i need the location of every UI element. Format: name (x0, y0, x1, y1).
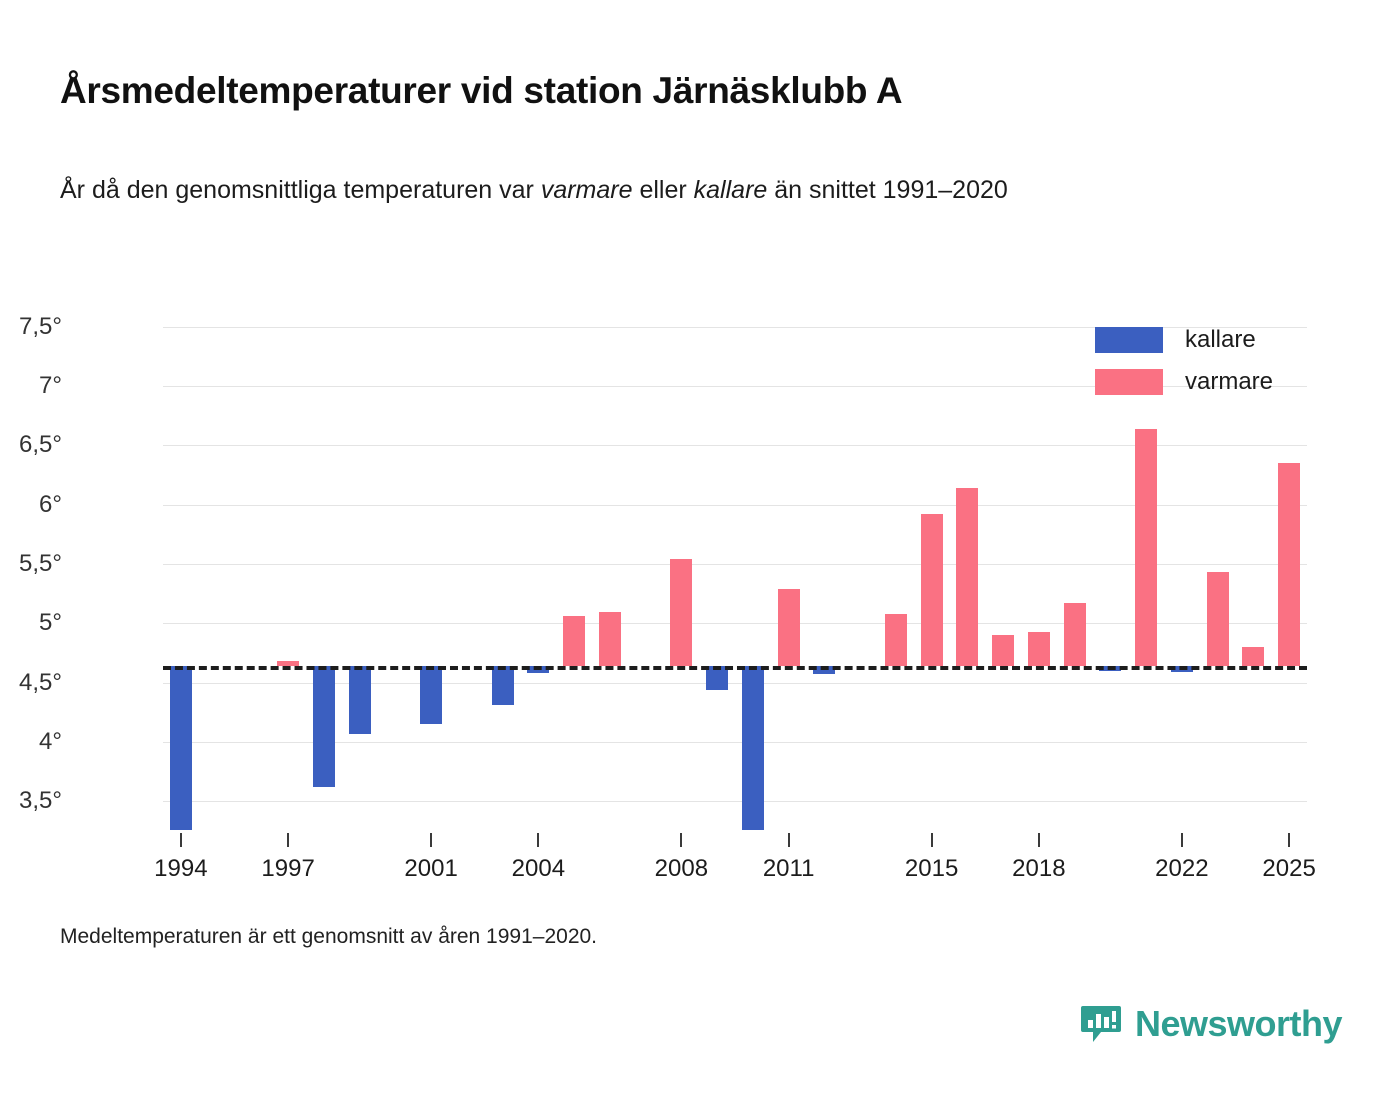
x-axis-tick (430, 833, 432, 847)
x-axis-tick (287, 833, 289, 847)
legend-label-kallare: kallare (1185, 326, 1256, 354)
legend-swatch-kallare (1095, 327, 1163, 353)
chart-bar[interactable] (313, 666, 335, 787)
y-axis-tick-label: 6,5° (19, 431, 62, 459)
x-axis-tick (180, 833, 182, 847)
x-axis-tick-label: 1994 (154, 855, 207, 883)
chart-bar[interactable] (992, 635, 1014, 666)
x-axis-tick (1288, 833, 1290, 847)
x-axis-tick-label: 2008 (655, 855, 708, 883)
chart-bar[interactable] (742, 666, 764, 830)
x-axis-tick (1181, 833, 1183, 847)
chart-footnote: Medeltemperaturen är ett genomsnitt av å… (60, 925, 597, 949)
bar-chart-bubble-icon (1079, 1002, 1123, 1046)
subtitle-emphasis-varmare: varmare (541, 176, 633, 204)
y-axis-tick-label: 4° (39, 728, 62, 756)
subtitle-emphasis-kallare: kallare (694, 176, 768, 204)
legend-item-varmare: varmare (1095, 368, 1273, 396)
chart-bar[interactable] (921, 514, 943, 666)
x-axis-tick (931, 833, 933, 847)
gridline (163, 801, 1307, 802)
chart-bar[interactable] (349, 666, 371, 734)
x-axis-tick (788, 833, 790, 847)
y-axis-tick-label: 7,5° (19, 313, 62, 341)
y-axis-tick-label: 4,5° (19, 669, 62, 697)
chart-bar[interactable] (778, 589, 800, 666)
x-axis-tick-label: 2001 (404, 855, 457, 883)
x-axis-tick-label: 2022 (1155, 855, 1208, 883)
chart-legend: kallare varmare (1095, 326, 1273, 410)
x-axis-tick-label: 2011 (763, 855, 815, 883)
chart-bar[interactable] (563, 616, 585, 666)
x-axis-tick-label: 1997 (261, 855, 314, 883)
subtitle-part-1: År då den genomsnittliga temperaturen va… (60, 176, 541, 204)
legend-swatch-varmare (1095, 369, 1163, 395)
chart-bar[interactable] (170, 666, 192, 830)
subtitle-part-3: än snittet 1991–2020 (767, 176, 1007, 204)
x-axis-tick-label: 2015 (905, 855, 958, 883)
chart-bar[interactable] (1278, 463, 1300, 666)
x-axis-tick-label: 2004 (512, 855, 565, 883)
chart-bar[interactable] (1064, 603, 1086, 666)
average-baseline (163, 666, 1307, 670)
chart-bar[interactable] (670, 559, 692, 666)
x-axis-tick-label: 2025 (1262, 855, 1315, 883)
y-axis-tick-label: 3,5° (19, 787, 62, 815)
y-axis-tick-label: 5,5° (19, 550, 62, 578)
y-axis-tick-label: 7° (39, 372, 62, 400)
newsworthy-logo: Newsworthy (1079, 1002, 1342, 1046)
chart-bar[interactable] (420, 666, 442, 724)
x-axis-tick (537, 833, 539, 847)
chart-bar[interactable] (1135, 429, 1157, 666)
page-title: Årsmedeltemperaturer vid station Järnäsk… (60, 70, 902, 112)
x-axis-tick (680, 833, 682, 847)
page-subtitle: År då den genomsnittliga temperaturen va… (60, 172, 1290, 208)
chart-bar[interactable] (599, 612, 621, 667)
newsworthy-wordmark: Newsworthy (1135, 1003, 1342, 1045)
y-axis-tick-label: 6° (39, 491, 62, 519)
subtitle-part-2: eller (633, 176, 694, 204)
chart-bar[interactable] (1242, 647, 1264, 666)
chart-bar[interactable] (956, 488, 978, 666)
chart-bar[interactable] (885, 614, 907, 666)
chart-bar[interactable] (1028, 632, 1050, 666)
x-axis-tick-label: 2018 (1012, 855, 1065, 883)
legend-label-varmare: varmare (1185, 368, 1273, 396)
legend-item-kallare: kallare (1095, 326, 1273, 354)
x-axis-tick (1038, 833, 1040, 847)
chart-bar[interactable] (492, 666, 514, 705)
chart-bar[interactable] (1207, 572, 1229, 666)
y-axis-tick-label: 5° (39, 609, 62, 637)
